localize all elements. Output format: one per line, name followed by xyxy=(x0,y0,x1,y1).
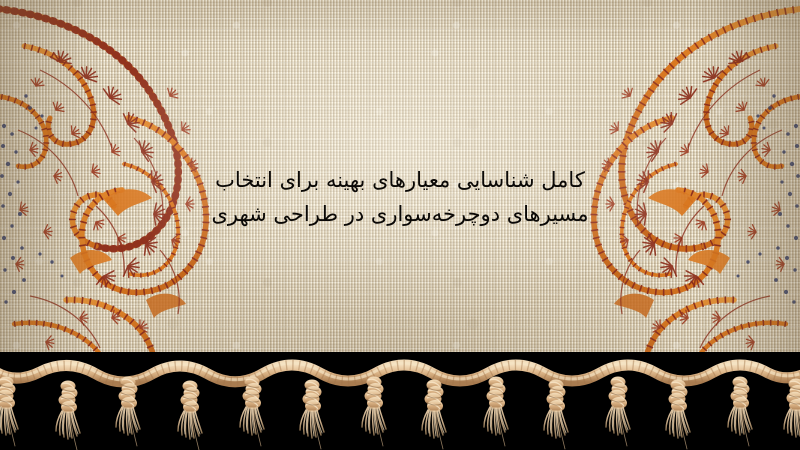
title-line-2: مسیرهای دوچرخه‌سواری در طراحی شهری xyxy=(0,197,800,231)
title-line-1: کامل شناسایی معیارهای بهینه برای انتخاب xyxy=(0,163,800,197)
page-title: کامل شناسایی معیارهای بهینه برای انتخاب … xyxy=(0,163,800,231)
tassel-row xyxy=(0,377,800,450)
textile-banner-image: کامل شناسایی معیارهای بهینه برای انتخاب … xyxy=(0,0,800,450)
fringe-header-cord xyxy=(0,363,800,382)
tassel-fringe xyxy=(0,352,800,450)
